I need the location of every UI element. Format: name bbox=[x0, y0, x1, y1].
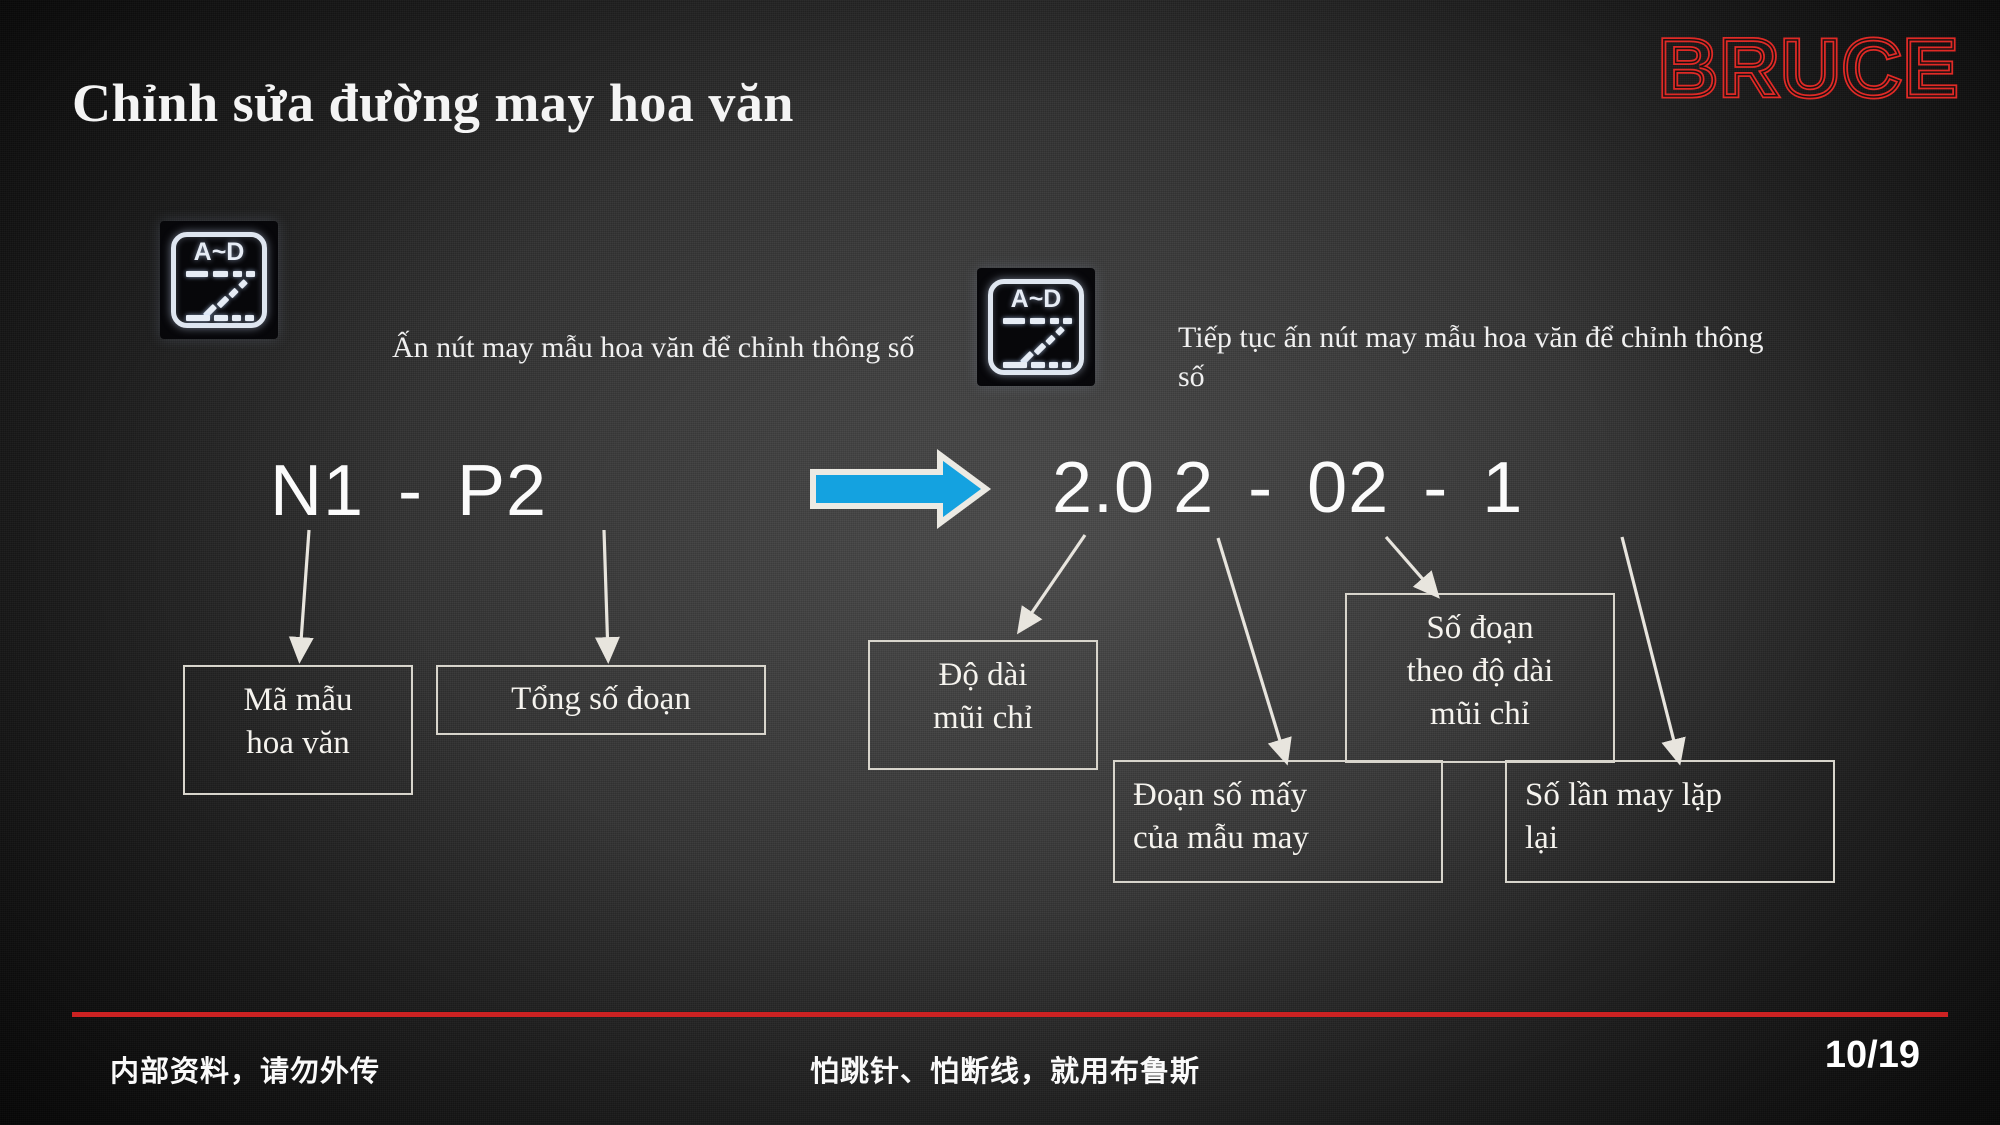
connector-arrows bbox=[0, 0, 2000, 1125]
icon-label-left: A~D bbox=[176, 240, 262, 265]
label-box-total-segments: Tổng số đoạn bbox=[436, 665, 766, 735]
brand-logo: BRUCE bbox=[1658, 28, 1960, 110]
label-line: Mã mẫu bbox=[203, 679, 393, 722]
label-box-which-segment: Đoạn số mấy của mẫu may bbox=[1113, 760, 1443, 883]
label-box-pattern-code: Mã mẫu hoa văn bbox=[183, 665, 413, 795]
label-line: của mẫu may bbox=[1133, 817, 1423, 860]
slide-canvas: BRUCE BRUCE Chỉnh sửa đường may hoa văn … bbox=[0, 0, 2000, 1125]
icon-label-right: A~D bbox=[993, 287, 1079, 312]
footer-divider-rule bbox=[72, 1012, 1948, 1017]
left-instruction-text: Ấn nút may mẫu hoa văn để chỉnh thông số bbox=[392, 328, 952, 367]
footer-slogan: 怕跳针、怕断线，就用布鲁斯 bbox=[810, 1048, 1200, 1090]
page-title: Chỉnh sửa đường may hoa văn bbox=[72, 72, 794, 134]
label-line: Tổng số đoạn bbox=[511, 678, 691, 721]
right-instruction-text: Tiếp tục ấn nút may mẫu hoa văn để chỉnh… bbox=[1178, 318, 1778, 396]
label-box-segments-by-length: Số đoạn theo độ dài mũi chỉ bbox=[1345, 593, 1615, 763]
label-line: mũi chỉ bbox=[888, 697, 1078, 740]
code-part-segments: P2 bbox=[457, 451, 547, 531]
label-line: theo độ dài bbox=[1365, 650, 1595, 693]
footer-confidential-note: 内部资料，请勿外传 bbox=[110, 1048, 380, 1090]
label-line: Số lần may lặp bbox=[1525, 774, 1815, 817]
code-part-sep1: - bbox=[1248, 448, 1273, 528]
code-part-seg-index: 02 bbox=[1307, 448, 1389, 528]
page-number: 10/19 bbox=[1825, 1034, 1920, 1077]
right-code-display: 2.02-02-1 bbox=[1052, 452, 1523, 524]
label-line: Đoạn số mấy bbox=[1133, 774, 1423, 817]
code-part-stitch-length: 2.0 bbox=[1052, 448, 1155, 528]
label-line: hoa văn bbox=[203, 722, 393, 765]
icon-frame-right: A~D bbox=[988, 279, 1084, 375]
code-part-repeat: 1 bbox=[1482, 448, 1523, 528]
label-line: lại bbox=[1525, 817, 1815, 860]
label-line: Độ dài bbox=[888, 654, 1078, 697]
code-part-sep1: - bbox=[398, 451, 423, 531]
label-box-repeat-count: Số lần may lặp lại bbox=[1505, 760, 1835, 883]
code-part-pattern: N1 bbox=[270, 451, 364, 531]
label-line: Số đoạn bbox=[1365, 607, 1595, 650]
label-box-stitch-length: Độ dài mũi chỉ bbox=[868, 640, 1098, 770]
pattern-sew-button-icon-right[interactable]: A~D bbox=[977, 268, 1095, 386]
code-part-sep2: - bbox=[1423, 448, 1448, 528]
icon-frame-left: A~D bbox=[171, 232, 267, 328]
transition-arrow bbox=[813, 455, 986, 523]
code-part-seg-count: 2 bbox=[1173, 448, 1214, 528]
pattern-sew-button-icon-left[interactable]: A~D bbox=[160, 221, 278, 339]
label-line: mũi chỉ bbox=[1365, 693, 1595, 736]
left-code-display: N1-P2 bbox=[270, 455, 547, 527]
